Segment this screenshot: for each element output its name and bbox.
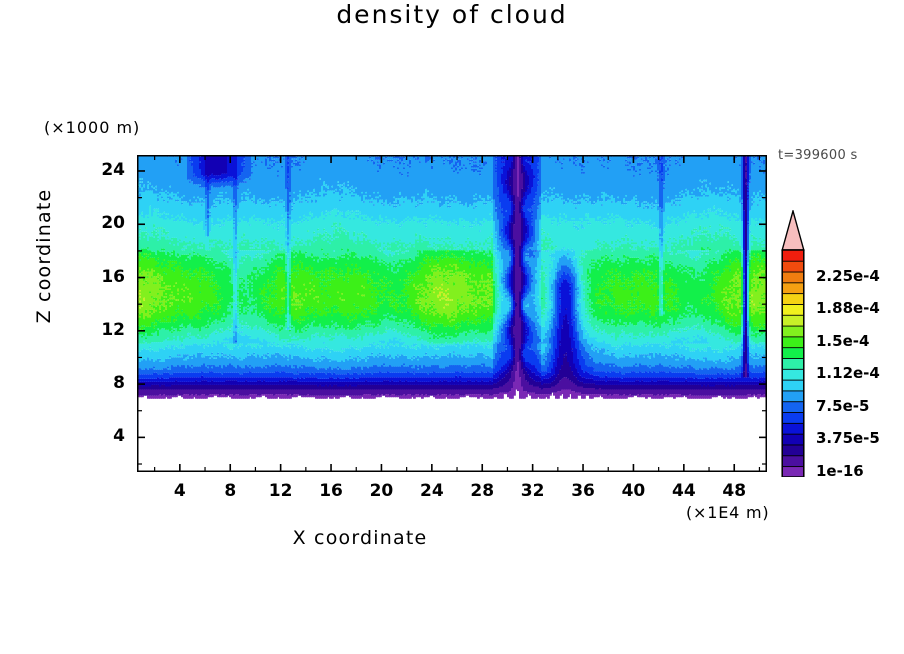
y-tick-label: 20 (89, 213, 125, 233)
y-tick-label: 8 (89, 373, 125, 393)
colorbar-tick-label: 1.5e-4 (816, 332, 869, 350)
colorbar-tick-label: 1.12e-4 (816, 364, 880, 382)
y-tick-label: 24 (89, 160, 125, 180)
colorbar-band (782, 250, 804, 261)
colorbar-over-arrow (782, 211, 804, 250)
x-axis-title: X coordinate (0, 527, 720, 549)
x-tick-label: 16 (311, 481, 351, 501)
x-tick-label: 28 (462, 481, 502, 501)
colorbar-tick-label: 3.75e-5 (816, 429, 880, 447)
y-tick-label: 16 (89, 267, 125, 287)
colorbar-band (782, 272, 804, 283)
x-tick-label: 32 (513, 481, 553, 501)
colorbar-band (782, 336, 804, 347)
colorbar-band (782, 455, 804, 466)
colorbar-tick-label: 7.5e-5 (816, 397, 869, 415)
x-tick-label: 8 (210, 481, 250, 501)
contour-field (137, 155, 767, 399)
x-tick-label: 36 (563, 481, 603, 501)
colorbar-band (782, 466, 804, 477)
colorbar[interactable] (781, 210, 805, 477)
x-tick-label: 20 (361, 481, 401, 501)
x-tick-label: 12 (261, 481, 301, 501)
colorbar-band (782, 391, 804, 402)
x-tick-label: 48 (714, 481, 754, 501)
colorbar-band (782, 347, 804, 358)
colorbar-band (782, 434, 804, 445)
colorbar-band (782, 412, 804, 423)
y-tick-label: 12 (89, 320, 125, 340)
colorbar-tick-label: 1e-16 (816, 462, 864, 480)
colorbar-band (782, 326, 804, 337)
page-title: density of cloud (0, 0, 904, 29)
x-tick-label: 44 (664, 481, 704, 501)
colorbar-band (782, 358, 804, 369)
colorbar-band (782, 304, 804, 315)
colorbar-band (782, 445, 804, 456)
contour-plot-canvas (137, 155, 767, 472)
colorbar-band (782, 423, 804, 434)
x-axis-units-label: (×1E4 m) (686, 503, 769, 522)
colorbar-band (782, 282, 804, 293)
colorbar-band (782, 293, 804, 304)
z-axis-title: Z coordinate (33, 176, 55, 336)
colorbar-tick-label: 1.88e-4 (816, 299, 880, 317)
colorbar-band (782, 369, 804, 380)
x-tick-label: 40 (613, 481, 653, 501)
colorbar-band (782, 261, 804, 272)
x-tick-label: 4 (160, 481, 200, 501)
timestamp-annotation: t=399600 s (778, 148, 858, 163)
colorbar-tick-label: 2.25e-4 (816, 267, 880, 285)
x-tick-label: 24 (412, 481, 452, 501)
y-tick-label: 4 (89, 426, 125, 446)
colorbar-band (782, 315, 804, 326)
colorbar-band (782, 401, 804, 412)
colorbar-band (782, 380, 804, 391)
y-axis-units-label: (×1000 m) (44, 118, 140, 137)
